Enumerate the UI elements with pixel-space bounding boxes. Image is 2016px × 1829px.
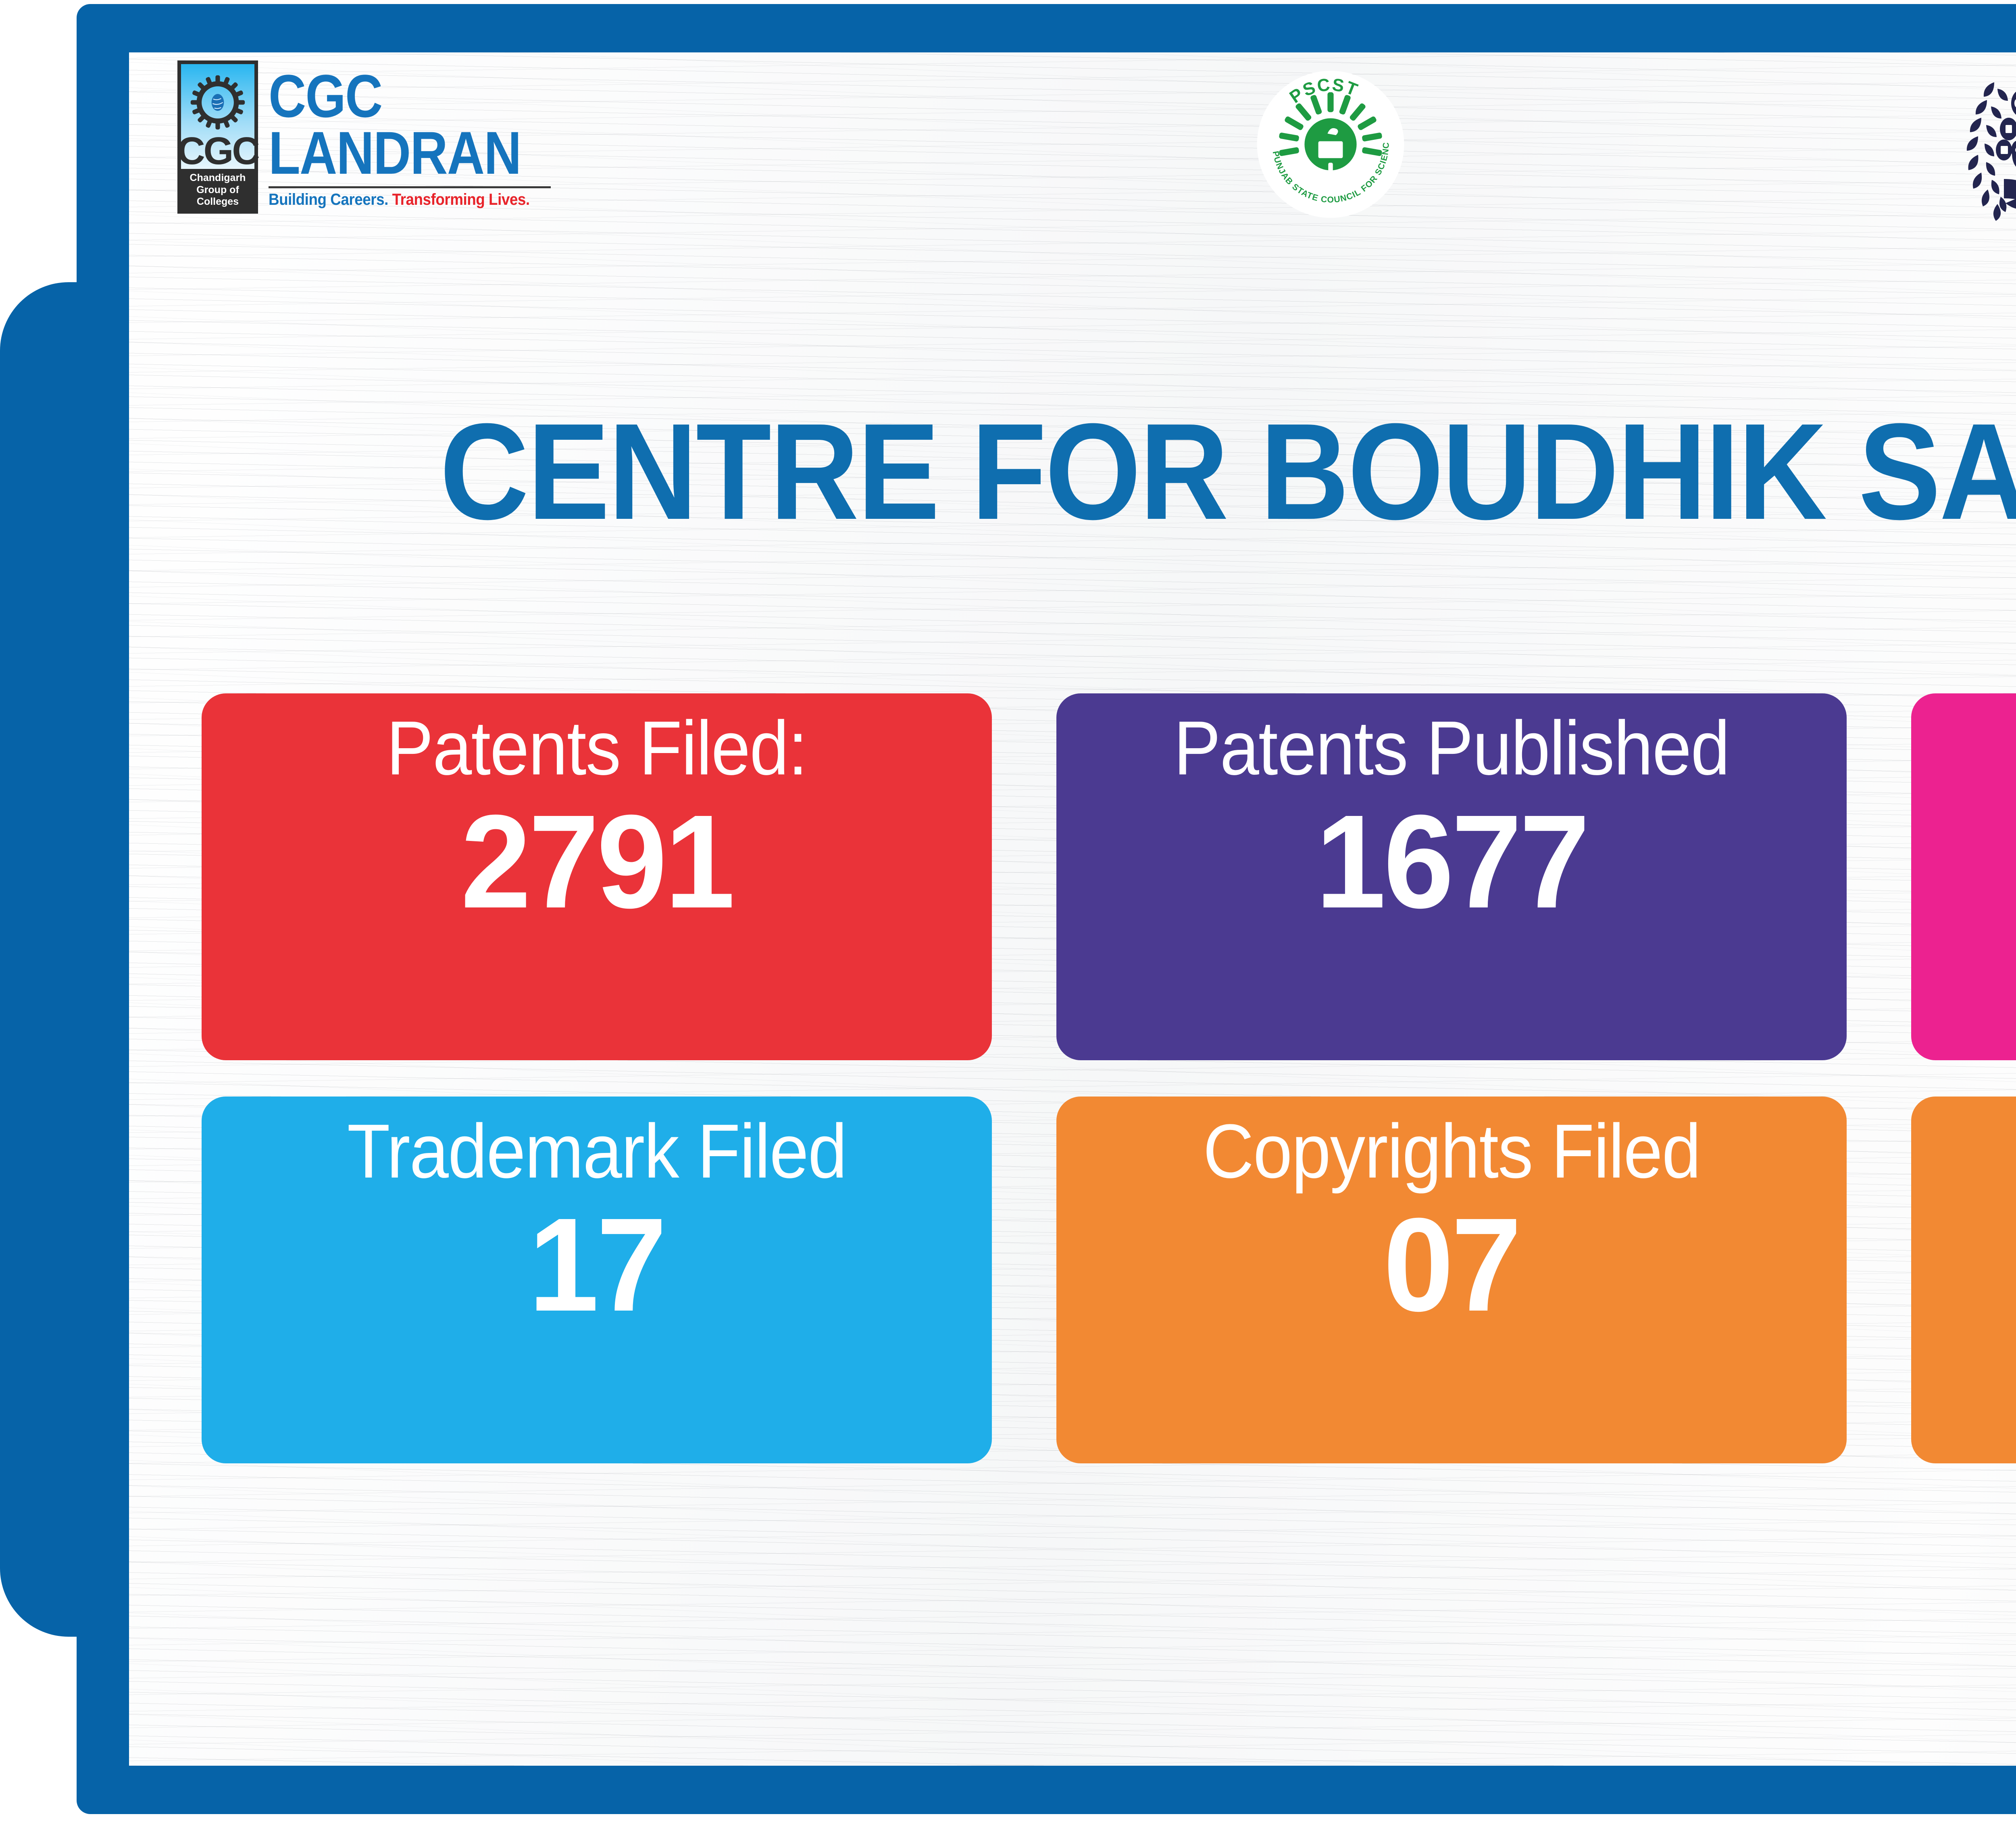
page-title: CENTRE FOR BOUDHIK SAMPADA [0, 403, 2016, 540]
stat-label: Trademark Filed [325, 1113, 868, 1191]
stat-card-patents-granted[interactable]: Patents Granted (Utility + Design) 129 [1911, 693, 2016, 1060]
laurel-book-tree-icon [1935, 65, 2016, 226]
stat-card-patents-published[interactable]: Patents Published 1677 [1056, 693, 1847, 1060]
stat-value: 07 [1380, 1198, 1523, 1331]
poster-canvas: CGC Chandigarh Group of Colleges CGC LAN… [0, 0, 2016, 1829]
cgc-badge-word: CGC [177, 133, 258, 169]
cgc-name-line-2: LANDRAN [269, 125, 521, 181]
cgc-tagline-red: Transforming Lives. [392, 191, 530, 208]
stat-value: 17 [525, 1198, 668, 1331]
cgc-caption-line-1: Chandigarh [182, 172, 254, 184]
stat-value: 2791 [454, 795, 740, 928]
pscst-logo: PSCST PUNJAB STATE COUNCIL FOR SCIENCE &… [1244, 68, 1417, 221]
stat-label: Copyrights Filed [1181, 1113, 1722, 1191]
stat-card-trademark-filed[interactable]: Trademark Filed 17 [202, 1097, 992, 1463]
cgc-caption-line-2: Group of Colleges [182, 184, 254, 208]
stat-card-copyrights-filed[interactable]: Copyrights Filed 07 [1056, 1097, 1847, 1463]
stat-label: Patents Filed: [368, 710, 825, 788]
cgc-tagline: Building Careers. Transforming Lives. [269, 191, 538, 209]
stat-label: Patents Published [1150, 710, 1754, 788]
logo-row: CGC Chandigarh Group of Colleges CGC LAN… [0, 60, 2016, 230]
cgc-name-line-1: CGC [269, 68, 521, 125]
cgc-landran-logo: CGC Chandigarh Group of Colleges CGC LAN… [177, 60, 562, 214]
stat-card-patents-filed[interactable]: Patents Filed: 2791 [202, 693, 992, 1060]
acic-rise-logo: ACIC RISE ASSOCIATION CEC LANDRAN [1935, 65, 2016, 226]
cogwheel-globe-icon [190, 72, 246, 133]
cgc-badge-caption: Chandigarh Group of Colleges [181, 169, 254, 212]
cgc-wordmark: CGC LANDRAN Building Careers. Transformi… [269, 60, 562, 209]
page-title-text: CENTRE FOR BOUDHIK SAMPADA [440, 403, 2016, 540]
stat-value: 1677 [1308, 795, 1595, 928]
stats-grid: Patents Filed: 2791 Patents Published 16… [202, 693, 2016, 1463]
cgc-badge: CGC Chandigarh Group of Colleges [177, 60, 258, 214]
cgc-tagline-blue: Building Careers. [269, 191, 388, 208]
stat-card-design-filed[interactable]: Design Filed 87 [1911, 1097, 2016, 1463]
